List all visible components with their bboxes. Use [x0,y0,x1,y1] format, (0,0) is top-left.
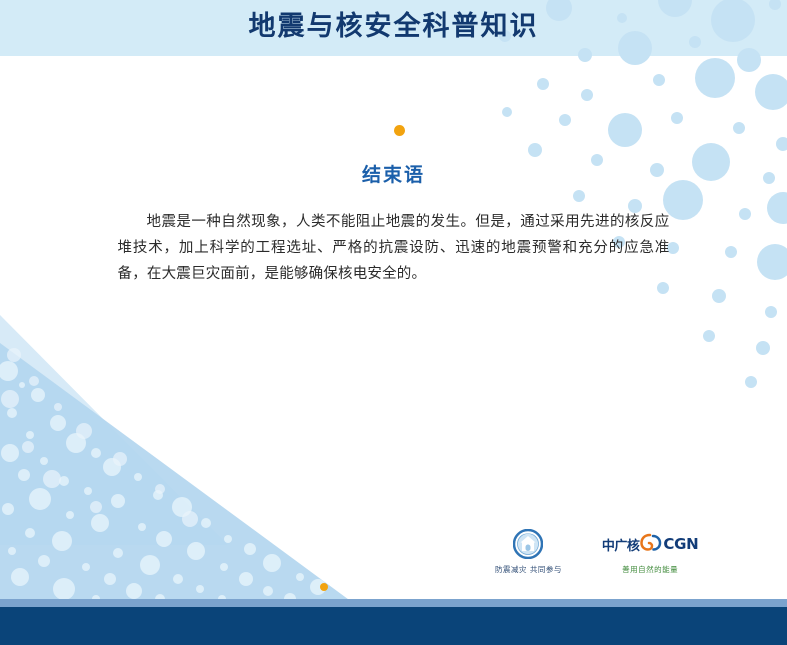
logo-caption-disaster: 防震减灾 共同参与 [495,564,562,575]
cgn-wordmark-en: CGN [663,535,698,553]
disaster-prevention-logo: 防震减灾 共同参与 [495,528,562,575]
slide-canvas: 地震与核安全科普知识 结束语 地震是一种自然现象，人类不能阻止地震的发生。但是，… [0,0,787,645]
bottom-accent-strip [0,599,787,607]
page-title: 地震与核安全科普知识 [0,0,787,56]
cgn-wordmark: 中广核 CGN [602,528,699,560]
cgn-wordmark-cn: 中广核 [602,535,640,554]
cgn-swirl-icon [640,533,662,555]
orange-accent-dot-lower [320,583,328,591]
triangle-svg [0,295,520,645]
logo-group: 防震减灾 共同参与 中广核 CGN 善用自然的能量 [495,528,735,588]
logo-caption-cgn: 善用自然的能量 [622,564,678,575]
bottom-navy-bar [0,607,787,645]
orange-accent-dot [394,125,405,136]
cgn-logo: 中广核 CGN 善用自然的能量 [602,528,699,575]
triangle-decoration [0,295,520,645]
shelter-seal-icon [513,529,543,559]
emblem-wrap [513,528,543,560]
body-paragraph: 地震是一种自然现象，人类不能阻止地震的发生。但是，通过采用先进的核反应堆技术，加… [118,209,670,287]
main-content: 结束语 地震是一种自然现象，人类不能阻止地震的发生。但是，通过采用先进的核反应堆… [0,160,787,287]
section-heading: 结束语 [0,160,787,187]
